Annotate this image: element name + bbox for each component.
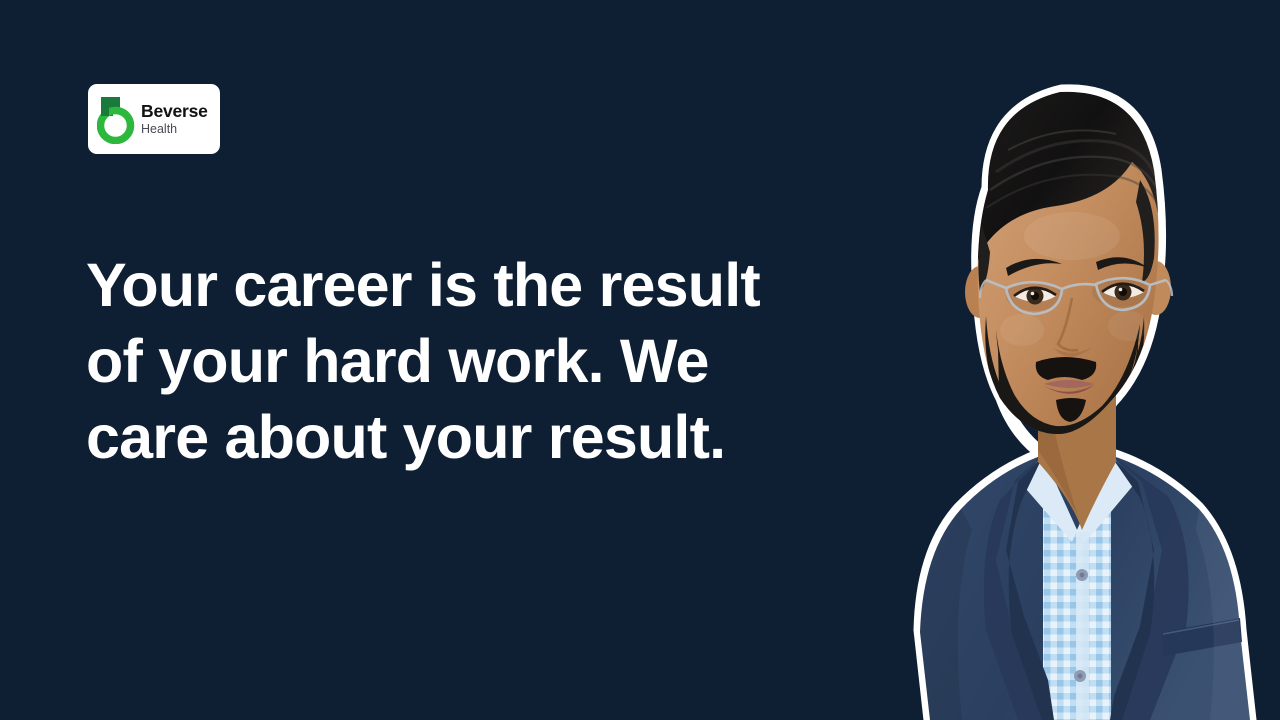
brand-tagline: Health — [141, 123, 208, 136]
portrait-photo — [810, 30, 1280, 720]
brand-name: Beverse — [141, 103, 208, 121]
brand-wordmark: Beverse Health — [141, 103, 208, 136]
headline-text: Your career is the result of your hard w… — [86, 247, 786, 475]
beverse-b-ring-logo-icon — [97, 94, 137, 144]
brand-logo-card[interactable]: Beverse Health — [88, 84, 220, 154]
promotional-banner: Beverse Health Your career is the result… — [0, 0, 1280, 720]
head — [965, 91, 1172, 442]
